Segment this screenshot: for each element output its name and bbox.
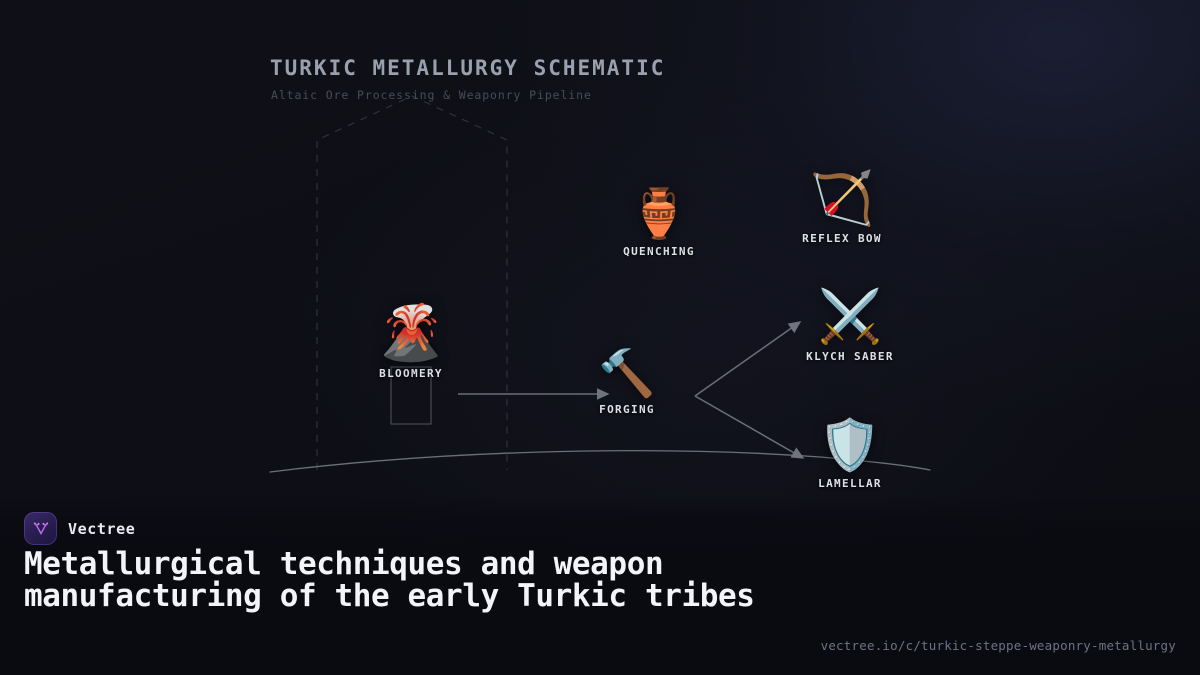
- node-label-bloomery: BLOOMERY: [379, 367, 443, 380]
- schematic-title: TURKIC METALLURGY SCHEMATIC: [270, 56, 665, 80]
- crossed-swords-icon: ⚔️: [818, 291, 883, 343]
- share-url: vectree.io/c/turkic-steppe-weaponry-meta…: [821, 638, 1176, 653]
- furnace-outline-path: [317, 96, 507, 470]
- node-label-klych-saber: KLYCH SABER: [806, 350, 894, 363]
- share-card: TURKIC METALLURGY SCHEMATIC Altaic Ore P…: [0, 0, 1200, 675]
- hammer-icon: 🔨: [598, 350, 655, 396]
- connector-fork-to-saber: [695, 322, 800, 396]
- brand-name: Vectree: [68, 520, 135, 538]
- node-forging[interactable]: 🔨 FORGING: [598, 350, 655, 416]
- volcano-icon: 🌋: [377, 306, 444, 360]
- page-title: Metallurgical techniques and weapon manu…: [24, 548, 814, 612]
- schematic-subtitle: Altaic Ore Processing & Weaponry Pipelin…: [271, 88, 592, 102]
- bow-and-arrow-icon: 🏹: [810, 173, 875, 225]
- node-label-forging: FORGING: [599, 403, 655, 416]
- node-lamellar[interactable]: 🛡️ LAMELLAR: [818, 420, 882, 490]
- amphora-icon: 🏺: [629, 190, 689, 238]
- node-klych-saber[interactable]: ⚔️ KLYCH SABER: [806, 291, 894, 363]
- connector-fork-to-lamellar: [695, 396, 803, 458]
- vectree-logo-icon: [24, 512, 57, 545]
- node-quenching[interactable]: 🏺 QUENCHING: [623, 190, 695, 258]
- node-reflex-bow[interactable]: 🏹 REFLEX BOW: [802, 173, 882, 245]
- node-bloomery[interactable]: 🌋 BLOOMERY: [377, 306, 444, 380]
- node-label-reflex-bow: REFLEX BOW: [802, 232, 882, 245]
- node-label-quenching: QUENCHING: [623, 245, 695, 258]
- node-label-lamellar: LAMELLAR: [818, 477, 882, 490]
- shield-icon: 🛡️: [819, 420, 881, 470]
- brand[interactable]: Vectree: [24, 512, 135, 545]
